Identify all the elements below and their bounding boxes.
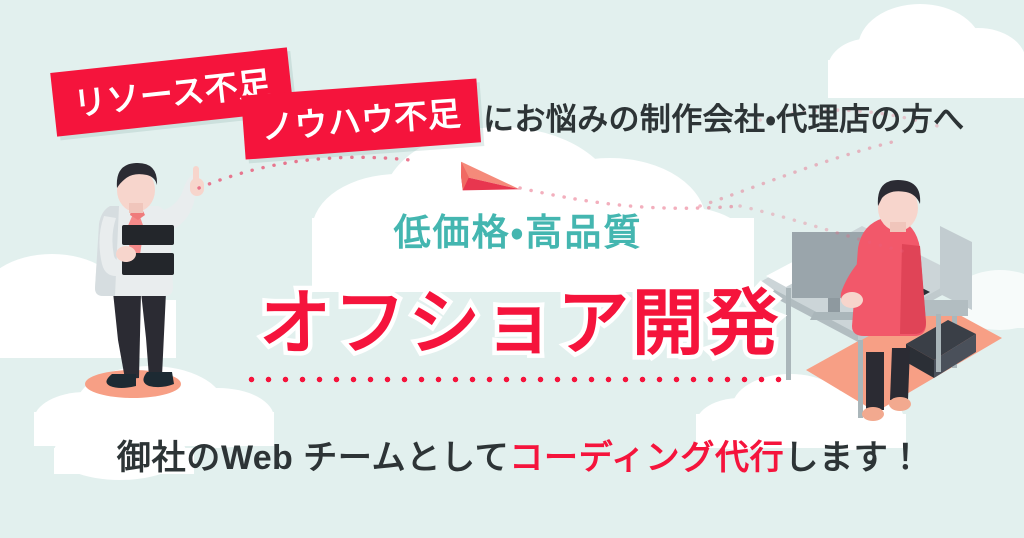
bottom-tagline-inner: 御社のWeb チームとしてコーディング代行します！ bbox=[117, 439, 923, 477]
subheadline-text: 低価格・高品質 bbox=[394, 212, 643, 253]
bottom-tagline: 御社のWeb チームとしてコーディング代行します！ bbox=[0, 430, 1024, 479]
hero-banner: リソース不足 ノウハウ不足 にお悩みの制作会社・代理店の方へ 低価格・高品質 オ… bbox=[0, 0, 1024, 538]
dotted-rule-divider bbox=[243, 376, 783, 383]
headline-tail-text: にお悩みの制作会社・代理店の方へ bbox=[483, 94, 965, 139]
tagline-accent: コーディング代行 bbox=[509, 439, 784, 477]
tagline-lead: 御社の bbox=[117, 439, 221, 477]
main-headline: オフショア開発 bbox=[0, 288, 1024, 360]
tagline-latin: Web bbox=[221, 439, 293, 477]
main-headline-text: オフショア開発 bbox=[259, 284, 781, 364]
subheadline: 低価格・高品質 bbox=[0, 202, 1024, 256]
tagline-mid: チームとして bbox=[293, 439, 509, 477]
tagline-tail: します！ bbox=[784, 439, 923, 477]
